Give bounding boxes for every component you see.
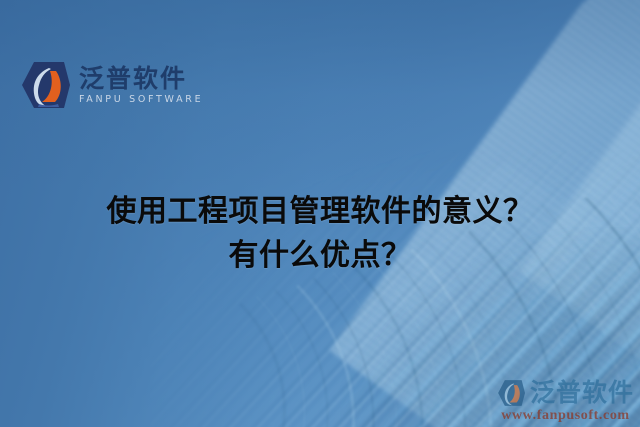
brand-logo-text: 泛普软件 FANPU SOFTWARE <box>79 64 203 105</box>
promo-banner: 泛普软件 FANPU SOFTWARE 使用工程项目管理软件的意义？ 有什么优点… <box>0 0 640 427</box>
watermark-brand-row: 泛普软件 <box>497 379 634 407</box>
brand-name-en: FANPU SOFTWARE <box>79 95 203 105</box>
headline-line-1: 使用工程项目管理软件的意义？ <box>0 190 640 234</box>
headline-line-2: 有什么优点？ <box>0 234 640 278</box>
page-title: 使用工程项目管理软件的意义？ 有什么优点？ <box>0 190 640 278</box>
fanpu-hexagon-logo-icon <box>20 60 70 110</box>
fanpu-watermark-logo-icon <box>497 379 525 407</box>
watermark: 泛普软件 www.fanpusoft.com <box>497 379 634 423</box>
brand-name-cn: 泛普软件 <box>79 65 203 92</box>
brand-logo[interactable]: 泛普软件 FANPU SOFTWARE <box>20 60 203 110</box>
watermark-brand-name: 泛普软件 <box>530 380 634 405</box>
watermark-url: www.fanpusoft.com <box>501 408 629 423</box>
